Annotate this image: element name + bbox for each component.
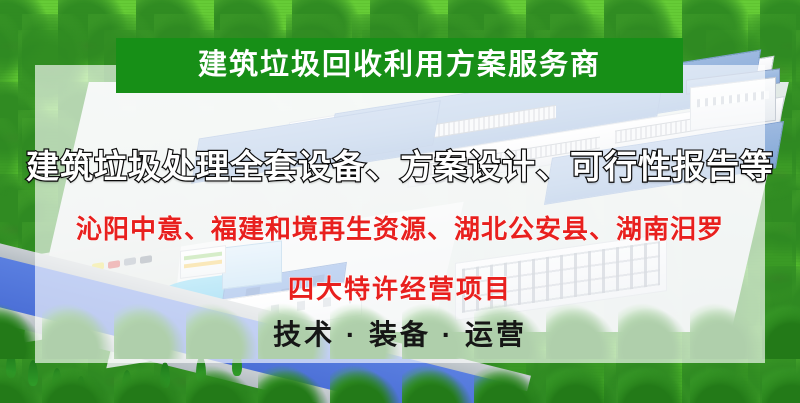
poster-text-content: 建筑垃圾回收利用方案服务商 建筑垃圾处理全套设备、方案设计、可行性报告等 沁阳中… (0, 0, 800, 403)
headline-banner: 建筑垃圾回收利用方案服务商 (116, 38, 683, 93)
services-line: 建筑垃圾处理全套设备、方案设计、可行性报告等 (0, 140, 800, 188)
pillars-line: 技术 · 装备 · 运营 (0, 313, 800, 353)
headline-title: 建筑垃圾回收利用方案服务商 (198, 51, 601, 80)
promotional-poster: 建筑垃圾回收利用方案服务商 建筑垃圾处理全套设备、方案设计、可行性报告等 沁阳中… (0, 0, 800, 403)
projects-list-line: 沁阳中意、福建和境再生资源、湖北公安县、湖南汨罗 (0, 209, 800, 246)
projects-label-line: 四大特许经营项目 (0, 269, 800, 306)
